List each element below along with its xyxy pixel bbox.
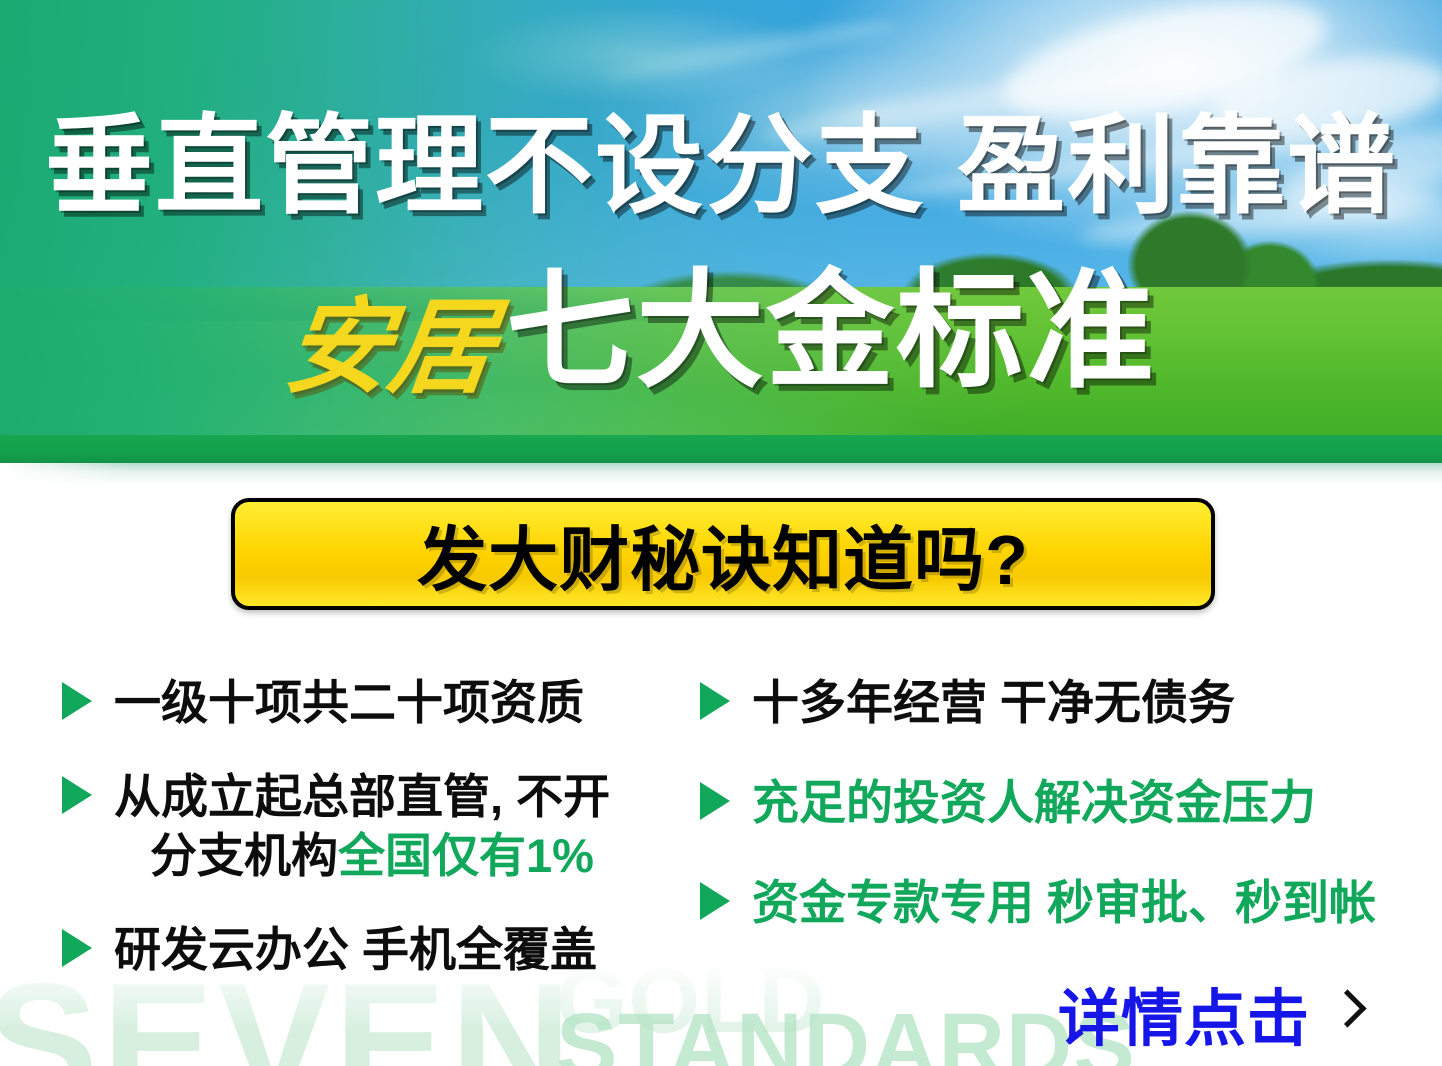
list-item: 研发云办公 手机全覆盖 bbox=[62, 920, 597, 979]
feature-list: 一级十项共二十项资质 从成立起总部直管, 不开 分支机构全国仅有1% 研发云办公… bbox=[0, 655, 1442, 995]
triangle-bullet-icon bbox=[700, 782, 730, 820]
list-item-line2-highlight: 全国仅有1% bbox=[338, 829, 594, 882]
list-item: 一级十项共二十项资质 bbox=[62, 673, 584, 732]
list-item: 资金专款专用 秒审批、秒到帐 bbox=[700, 873, 1376, 932]
hero-drop-shadow bbox=[0, 463, 1442, 485]
list-item: 充足的投资人解决资金压力 bbox=[700, 773, 1316, 832]
highlight-banner-text: 发大财秘诀知道吗? bbox=[417, 504, 1029, 605]
list-item-label: 从成立起总部直管, 不开 分支机构全国仅有1% bbox=[114, 767, 610, 885]
hero-main-text: 七大金标准 bbox=[506, 268, 1156, 396]
watermark-standards: STANDARDS bbox=[556, 1000, 1136, 1066]
list-item-label: 研发云办公 手机全覆盖 bbox=[114, 920, 597, 979]
list-item-label: 一级十项共二十项资质 bbox=[114, 673, 584, 732]
triangle-bullet-icon bbox=[62, 776, 92, 814]
triangle-bullet-icon bbox=[62, 929, 92, 967]
triangle-bullet-icon bbox=[700, 882, 730, 920]
hero-headline: 垂直管理不设分支 盈利靠谱 bbox=[0, 112, 1442, 220]
details-cta[interactable]: 详情点击 bbox=[1058, 968, 1358, 1058]
hero-banner: 垂直管理不设分支 盈利靠谱 安居七大金标准 bbox=[0, 0, 1442, 463]
promo-poster: 垂直管理不设分支 盈利靠谱 安居七大金标准 发大财秘诀知道吗? 一级十项共二十项… bbox=[0, 0, 1442, 1066]
list-item: 十多年经营 干净无债务 bbox=[700, 673, 1235, 732]
triangle-bullet-icon bbox=[700, 682, 730, 720]
hero-subheadline: 安居七大金标准 bbox=[0, 268, 1442, 400]
details-cta-label: 详情点击 bbox=[1058, 968, 1310, 1058]
triangle-bullet-icon bbox=[62, 682, 92, 720]
list-item: 从成立起总部直管, 不开 分支机构全国仅有1% bbox=[62, 767, 610, 885]
list-item-line2-plain: 分支机构 bbox=[150, 829, 338, 882]
list-item-label: 十多年经营 干净无债务 bbox=[752, 673, 1235, 732]
list-item-label: 充足的投资人解决资金压力 bbox=[752, 773, 1316, 832]
list-item-line2: 分支机构全国仅有1% bbox=[150, 826, 610, 885]
chevron-right-icon bbox=[1332, 989, 1358, 1037]
hero-brand-text: 安居 bbox=[280, 296, 501, 400]
list-item-label: 资金专款专用 秒审批、秒到帐 bbox=[752, 873, 1376, 932]
list-item-line1: 从成立起总部直管, 不开 bbox=[114, 770, 610, 823]
highlight-banner[interactable]: 发大财秘诀知道吗? bbox=[231, 498, 1215, 610]
hero-bottom-band bbox=[0, 435, 1442, 463]
